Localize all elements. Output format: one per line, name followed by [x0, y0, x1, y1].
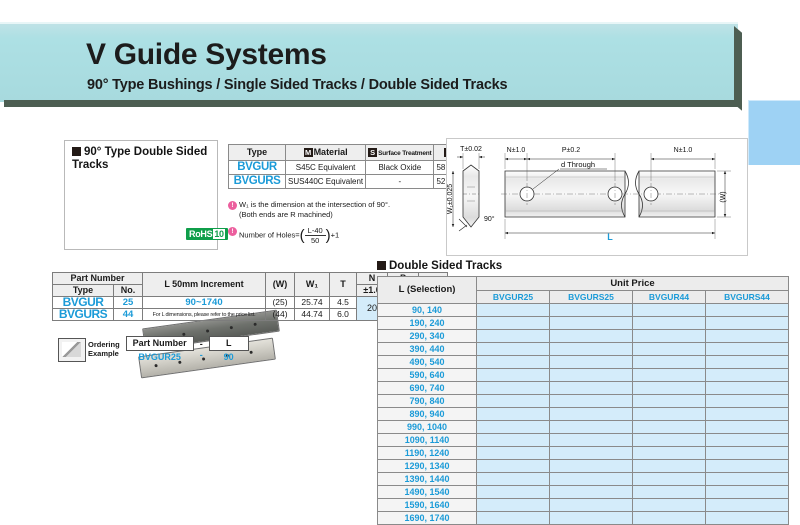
price-cell-bvgur44[interactable] [632, 395, 705, 408]
pn-t-25: 4.5 [330, 297, 357, 309]
pn-w-25: (25) [266, 297, 295, 309]
dim-l-label: L [607, 232, 613, 242]
price-table-body: 90, 140190, 240290, 340390, 440490, 5405… [378, 304, 789, 525]
price-l-value: 890, 940 [378, 408, 477, 421]
price-l-value: 790, 840 [378, 395, 477, 408]
note-holes-text: Number of Holes=(L-4050)+1 [239, 226, 339, 245]
price-l-value: 190, 240 [378, 317, 477, 330]
pn-header-w1: W₁ [295, 273, 330, 297]
price-header-l-selection: L (Selection) [378, 277, 477, 304]
price-cell-bvgurs44[interactable] [705, 343, 788, 356]
price-cell-bvgur44[interactable] [632, 317, 705, 330]
price-cell-bvgur44[interactable] [632, 408, 705, 421]
note-marker-icon: ! [228, 227, 237, 236]
notes-block: ! W₁ is the dimension at the intersectio… [228, 200, 408, 251]
spec-type-bvgurs: BVGURS [229, 175, 286, 189]
price-cell-bvgurs44[interactable] [705, 369, 788, 382]
pn-no-25: 25 [114, 297, 143, 309]
side-index-tab[interactable] [748, 100, 800, 165]
pn-t-44: 6.0 [330, 309, 357, 321]
ordering-label: Ordering Example [88, 341, 120, 358]
dim-d-through-label: d Through [561, 160, 595, 169]
price-cell-bvgurs25[interactable] [549, 486, 632, 499]
note-w1-line2: (Both ends are R machined) [239, 210, 333, 219]
header-banner-edge [734, 26, 742, 111]
spec-header-surface: SSurface Treatment [366, 145, 434, 161]
price-cell-bvgur25[interactable] [477, 369, 550, 382]
price-cell-bvgurs25[interactable] [549, 421, 632, 434]
price-cell-bvgurs25[interactable] [549, 343, 632, 356]
pn-header-part-number: Part Number [53, 273, 143, 285]
note-w1-text: W₁ is the dimension at the intersection … [239, 200, 390, 220]
dim-w1-label: W₁±0.025 [447, 184, 454, 214]
price-cell-bvgurs44[interactable] [705, 473, 788, 486]
price-cell-bvgurs44[interactable] [705, 382, 788, 395]
dim-t-label: T±0.02 [460, 146, 482, 153]
pn-l-note: For L dimensions, please refer to the pr… [143, 309, 266, 321]
table-row: 790, 840 [378, 395, 789, 408]
table-row: 990, 1040 [378, 421, 789, 434]
catalog-page: V Guide Systems 90° Type Bushings / Sing… [0, 0, 800, 519]
price-cell-bvgur44[interactable] [632, 356, 705, 369]
price-cell-bvgurs25[interactable] [549, 395, 632, 408]
spec-header-surface-label: Surface Treatment [378, 150, 431, 157]
table-row: 1490, 1540 [378, 486, 789, 499]
pn-header-no: No. [114, 285, 143, 297]
price-cell-bvgur25[interactable] [477, 434, 550, 447]
ordering-separator-top: - [200, 339, 203, 349]
pn-header-w: (W) [266, 273, 295, 297]
pn-header-t: T [330, 273, 357, 297]
dim-w-label: (W) [720, 191, 727, 202]
price-l-value: 590, 640 [378, 369, 477, 382]
price-cell-bvgur44[interactable] [632, 421, 705, 434]
price-cell-bvgurs25[interactable] [549, 434, 632, 447]
spec-header-type: Type [229, 145, 286, 161]
page-subtitle: 90° Type Bushings / Single Sided Tracks … [87, 78, 507, 93]
spec-material-bvgur: S45C Equivalent [286, 161, 366, 175]
price-cell-bvgur25[interactable] [477, 343, 550, 356]
price-header-bvgur25: BVGUR25 [477, 291, 550, 304]
price-cell-bvgur25[interactable] [477, 382, 550, 395]
price-l-value: 290, 340 [378, 330, 477, 343]
price-cell-bvgurs25[interactable] [549, 330, 632, 343]
table-row: 290, 340 [378, 330, 789, 343]
pn-type-bvgurs: BVGURS [53, 309, 114, 321]
price-l-value: 390, 440 [378, 343, 477, 356]
page-title: V Guide Systems [86, 40, 327, 70]
table-row: 1190, 1240 [378, 447, 789, 460]
surface-badge-icon: S [368, 148, 377, 157]
price-cell-bvgurs44[interactable] [705, 447, 788, 460]
holes-fraction: L-4050 [305, 226, 326, 245]
dim-p-label: P±0.2 [562, 147, 580, 154]
bullet-square-icon [72, 147, 81, 156]
price-cell-bvgurs25[interactable] [549, 356, 632, 369]
note-marker-icon: ! [228, 201, 237, 210]
price-cell-bvgur25[interactable] [477, 317, 550, 330]
spec-surface-bvgur: Black Oxide [366, 161, 434, 175]
table-row: 1290, 1340 [378, 460, 789, 473]
price-table-title: Double Sided Tracks [377, 260, 502, 272]
price-cell-bvgur44[interactable] [632, 473, 705, 486]
price-cell-bvgur25[interactable] [477, 512, 550, 525]
price-l-value: 1090, 1140 [378, 434, 477, 447]
pn-w-44: (44) [266, 309, 295, 321]
technical-drawing: T±0.02 W₁±0.025 90° [446, 138, 748, 256]
dim-angle-label: 90° [484, 215, 495, 223]
price-cell-bvgurs44[interactable] [705, 395, 788, 408]
rohs-label: RoHS [189, 229, 212, 239]
price-cell-bvgurs44[interactable] [705, 304, 788, 317]
price-cell-bvgurs25[interactable] [549, 447, 632, 460]
ordering-separator-bottom: - [200, 349, 203, 361]
price-cell-bvgur25[interactable] [477, 330, 550, 343]
price-l-value: 1290, 1340 [378, 460, 477, 473]
price-cell-bvgurs44[interactable] [705, 460, 788, 473]
price-table: L (Selection) Unit Price BVGUR25 BVGURS2… [377, 276, 789, 525]
table-row: 390, 440 [378, 343, 789, 356]
product-caption-text: 90° Type Double Sided Tracks [72, 146, 207, 171]
price-cell-bvgurs25[interactable] [549, 408, 632, 421]
price-header-unit-price: Unit Price [477, 277, 789, 291]
price-cell-bvgurs44[interactable] [705, 486, 788, 499]
material-badge-icon: M [304, 148, 313, 157]
price-cell-bvgur25[interactable] [477, 460, 550, 473]
price-cell-bvgur44[interactable] [632, 499, 705, 512]
price-cell-bvgurs44[interactable] [705, 317, 788, 330]
price-header-bvgurs25: BVGURS25 [549, 291, 632, 304]
table-row: 90, 140 [378, 304, 789, 317]
price-l-value: 1390, 1440 [378, 473, 477, 486]
spec-type-bvgur: BVGUR [229, 161, 286, 175]
ordering-label-line2: Example [88, 349, 119, 358]
pn-l-range: 90~1740 [143, 297, 266, 309]
bullet-square-icon [377, 261, 386, 270]
price-cell-bvgurs25[interactable] [549, 499, 632, 512]
price-cell-bvgur44[interactable] [632, 447, 705, 460]
price-cell-bvgur44[interactable] [632, 330, 705, 343]
holes-numerator: L-40 [305, 226, 326, 236]
price-cell-bvgur25[interactable] [477, 408, 550, 421]
ordering-example: Ordering Example Part Number BVGUR25 - -… [58, 336, 249, 363]
note-holes: ! Number of Holes=(L-4050)+1 [228, 226, 408, 245]
drawing-svg: T±0.02 W₁±0.025 90° [447, 139, 747, 255]
dim-n-right-label: N±1.0 [674, 147, 693, 154]
price-cell-bvgur44[interactable] [632, 460, 705, 473]
price-cell-bvgur25[interactable] [477, 304, 550, 317]
spec-header-material: MMaterial [286, 145, 366, 161]
spec-header-material-label: Material [314, 147, 348, 157]
price-cell-bvgurs44[interactable] [705, 499, 788, 512]
price-l-value: 1590, 1640 [378, 499, 477, 512]
price-l-value: 690, 740 [378, 382, 477, 395]
cross-section: T±0.02 W₁±0.025 90° [447, 146, 495, 231]
price-cell-bvgur25[interactable] [477, 447, 550, 460]
spec-surface-bvgurs: - [366, 175, 434, 189]
price-cell-bvgurs44[interactable] [705, 356, 788, 369]
price-cell-bvgur25[interactable] [477, 356, 550, 369]
price-cell-bvgurs44[interactable] [705, 408, 788, 421]
price-l-value: 1690, 1740 [378, 512, 477, 525]
dim-n-left-label: N±1.0 [507, 147, 526, 154]
rohs-number: 10 [213, 229, 224, 239]
table-row: 590, 640 [378, 369, 789, 382]
ordering-part-number-field[interactable]: Part Number BVGUR25 [126, 336, 194, 363]
pn-no-44: 44 [114, 309, 143, 321]
price-cell-bvgur25[interactable] [477, 421, 550, 434]
header-banner-shadow [4, 100, 742, 107]
table-row: 890, 940 [378, 408, 789, 421]
product-caption: 90° Type Double Sided Tracks [72, 146, 222, 171]
pn-header-l-increment: L 50mm Increment [143, 273, 266, 297]
price-cell-bvgurs44[interactable] [705, 434, 788, 447]
price-l-value: 1190, 1240 [378, 447, 477, 460]
price-cell-bvgurs25[interactable] [549, 473, 632, 486]
price-cell-bvgurs25[interactable] [549, 369, 632, 382]
ordering-part-number-value: BVGUR25 [138, 351, 181, 363]
price-cell-bvgur44[interactable] [632, 369, 705, 382]
price-l-value: 490, 540 [378, 356, 477, 369]
price-cell-bvgur25[interactable] [477, 473, 550, 486]
table-row: 1390, 1440 [378, 473, 789, 486]
price-cell-bvgur44[interactable] [632, 343, 705, 356]
table-row: 490, 540 [378, 356, 789, 369]
price-cell-bvgurs25[interactable] [549, 317, 632, 330]
spec-material-bvgurs: SUS440C Equivalent [286, 175, 366, 189]
price-cell-bvgur44[interactable] [632, 512, 705, 525]
price-l-value: 90, 140 [378, 304, 477, 317]
ordering-pencil-icon [58, 338, 86, 362]
note-holes-suffix: +1 [331, 230, 340, 239]
note-holes-prefix: Number of Holes= [239, 230, 300, 239]
price-header-bvgurs44: BVGURS44 [705, 291, 788, 304]
price-cell-bvgur44[interactable] [632, 304, 705, 317]
price-l-value: 990, 1040 [378, 421, 477, 434]
price-cell-bvgurs44[interactable] [705, 512, 788, 525]
table-row: 190, 240 [378, 317, 789, 330]
note-w1-line1: W₁ is the dimension at the intersection … [239, 200, 390, 209]
table-row: 1590, 1640 [378, 499, 789, 512]
pn-w1-44: 44.74 [295, 309, 330, 321]
table-row: 1090, 1140 [378, 434, 789, 447]
price-cell-bvgurs25[interactable] [549, 512, 632, 525]
ordering-separator: - - [194, 339, 209, 361]
side-view: d Through N±1.0 P±0.2 N±1.0 (W) [501, 147, 731, 242]
price-cell-bvgurs44[interactable] [705, 421, 788, 434]
price-header-bvgur44: BVGUR44 [632, 291, 705, 304]
price-cell-bvgur44[interactable] [632, 434, 705, 447]
price-l-value: 1490, 1540 [378, 486, 477, 499]
table-header-row: L (Selection) Unit Price [378, 277, 789, 291]
price-cell-bvgurs25[interactable] [549, 382, 632, 395]
price-cell-bvgur25[interactable] [477, 499, 550, 512]
price-table-title-text: Double Sided Tracks [389, 260, 502, 272]
price-cell-bvgur44[interactable] [632, 382, 705, 395]
pn-w1-25: 25.74 [295, 297, 330, 309]
ordering-l-field[interactable]: L 90 [209, 336, 249, 363]
price-cell-bvgurs44[interactable] [705, 330, 788, 343]
price-cell-bvgur25[interactable] [477, 395, 550, 408]
note-w1: ! W₁ is the dimension at the intersectio… [228, 200, 408, 220]
ordering-l-value: 90 [224, 351, 234, 363]
price-cell-bvgur44[interactable] [632, 486, 705, 499]
holes-denominator: 50 [305, 236, 326, 245]
ordering-part-number-header: Part Number [126, 336, 194, 351]
table-row: 1690, 1740 [378, 512, 789, 525]
rohs-badge: RoHS10 [186, 228, 228, 240]
ordering-l-header: L [209, 336, 249, 351]
price-cell-bvgur25[interactable] [477, 486, 550, 499]
price-cell-bvgurs25[interactable] [549, 304, 632, 317]
price-cell-bvgurs25[interactable] [549, 460, 632, 473]
table-row: 690, 740 [378, 382, 789, 395]
